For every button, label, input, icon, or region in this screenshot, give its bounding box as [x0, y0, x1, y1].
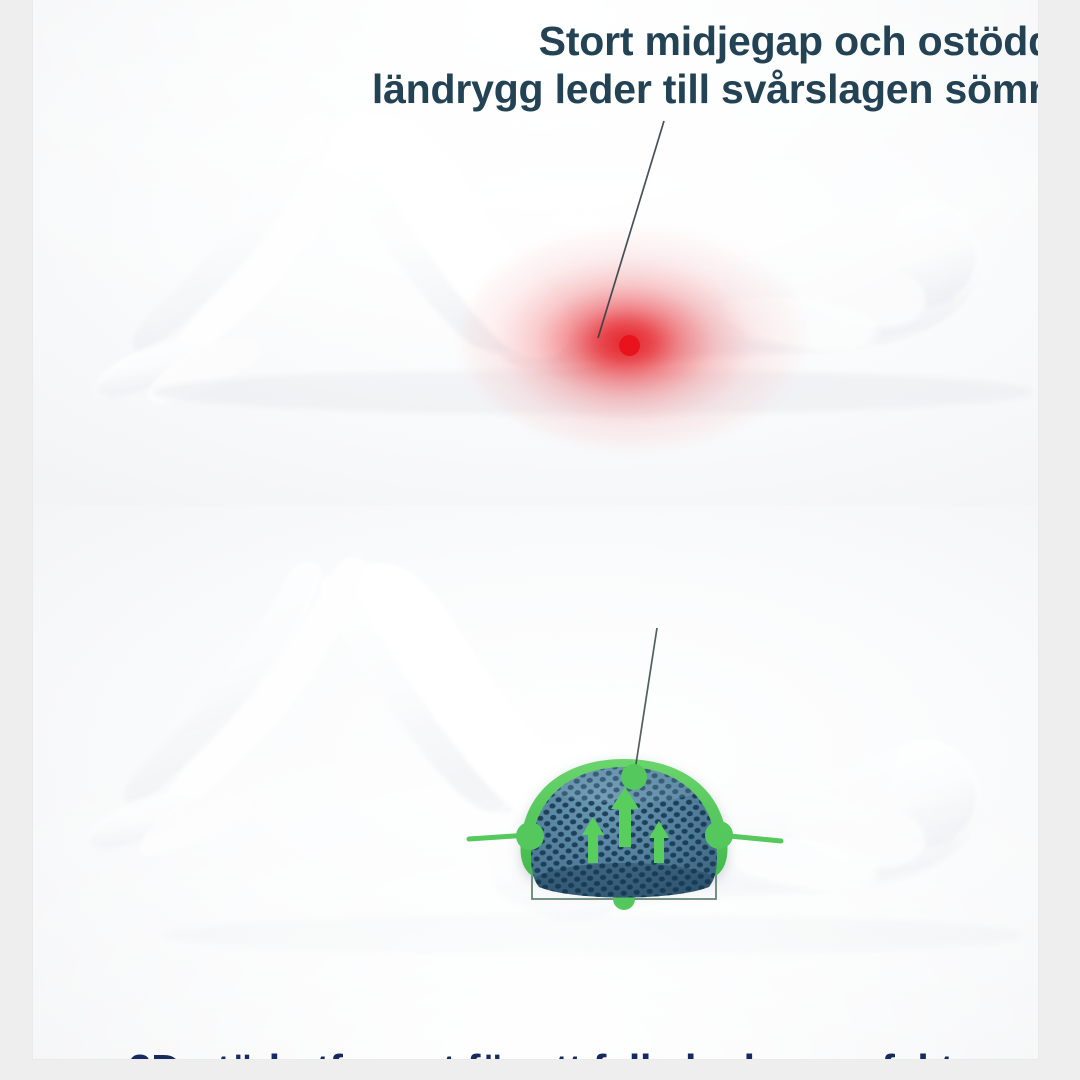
headline-problem: Stort midjegap och ostödd ländrygg leder… [193, 18, 1038, 113]
pain-marker-dot [619, 335, 640, 356]
panel-problem: Stort midjegap och ostödd ländrygg leder… [33, 0, 1038, 505]
cushion-right-node [705, 821, 733, 849]
cushion-apex-node [621, 764, 647, 790]
panel-solution: 3D-stöd utformat för att fylla luckor pe… [33, 505, 1038, 1059]
poster-card: Stort midjegap och ostödd ländrygg leder… [33, 0, 1038, 1059]
cushion-left-node [516, 822, 544, 850]
leader-line-bottom [634, 628, 657, 777]
poster-root: Stort midjegap och ostödd ländrygg leder… [0, 0, 1080, 1080]
lumbar-support-cushion [33, 505, 1038, 1059]
headline-solution: 3D-stöd utformat för att fylla luckor pe… [41, 1046, 1038, 1059]
